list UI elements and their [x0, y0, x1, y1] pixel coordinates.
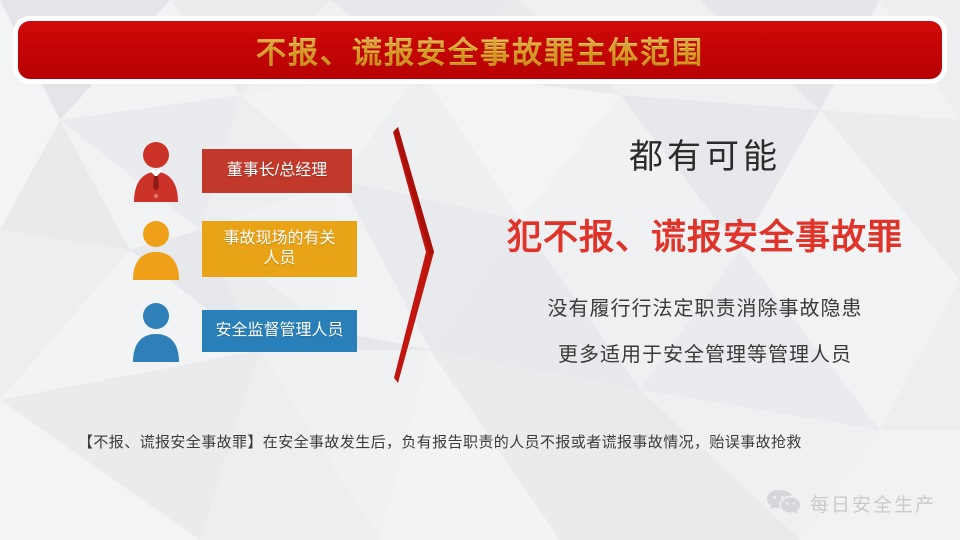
- person-silhouette-icon: [128, 300, 184, 362]
- page-title: 不报、谎报安全事故罪主体范围: [256, 28, 704, 72]
- slide-canvas: 不报、谎报安全事故罪主体范围 董事长/总经理: [0, 0, 960, 540]
- roster-item-safety-supervisor[interactable]: 安全监督管理人员: [128, 300, 357, 362]
- conclusion-possibility: 都有可能: [470, 140, 940, 174]
- person-silhouette-icon: [128, 218, 184, 280]
- conclusion-crime: 犯不报、谎报安全事故罪: [470, 220, 940, 255]
- roster-label-line: 事故现场的有关: [223, 229, 335, 249]
- roster-label-line: 安全监督管理人员: [215, 321, 343, 341]
- roster-label-line: 人员: [223, 249, 335, 269]
- watermark-text: 每日安全生产: [810, 490, 936, 517]
- roster-label-onsite-personnel: 事故现场的有关 人员: [202, 221, 357, 277]
- chevron-right-icon: [368, 125, 458, 385]
- slide-title-banner: 不报、谎报安全事故罪主体范围: [18, 21, 942, 79]
- footnote-definition: 【不报、谎报安全事故罪】在安全事故发生后，负有报告职责的人员不报或者谎报事故情况…: [78, 428, 888, 458]
- wechat-icon: [766, 488, 800, 518]
- person-suit-tie-icon: [128, 140, 184, 202]
- watermark: 每日安全生产: [766, 488, 936, 518]
- roster-label-chairman: 董事长/总经理: [202, 149, 352, 193]
- roster-item-onsite-personnel[interactable]: 事故现场的有关 人员: [128, 218, 357, 280]
- conclusion-note-2: 更多适用于安全管理等管理人员: [470, 345, 940, 365]
- roster-label-safety-supervisor: 安全监督管理人员: [202, 310, 357, 352]
- conclusion-block: 都有可能 犯不报、谎报安全事故罪 没有履行行法定职责消除事故隐患 更多适用于安全…: [470, 140, 940, 365]
- conclusion-note-1: 没有履行行法定职责消除事故隐患: [470, 299, 940, 319]
- roster-label-line: 董事长/总经理: [227, 161, 327, 181]
- roster-item-chairman[interactable]: 董事长/总经理: [128, 140, 352, 202]
